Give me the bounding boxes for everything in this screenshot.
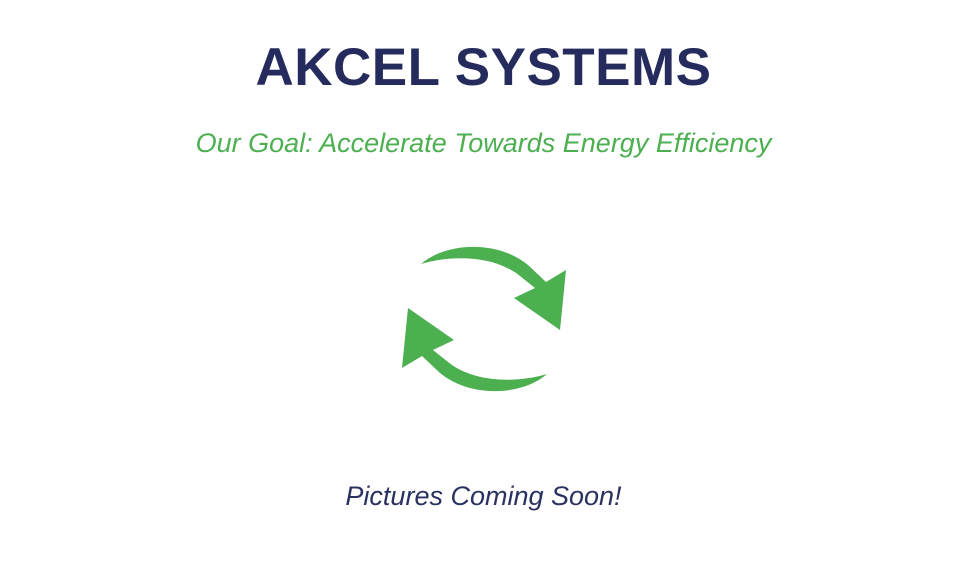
page-title: AKCEL SYSTEMS [0,36,967,100]
company-tagline: Our Goal: Accelerate Towards Energy Effi… [0,125,967,161]
graphic-container [0,240,967,398]
coming-soon-message: Pictures Coming Soon! [0,478,967,514]
recycle-arrows-icon [394,240,574,398]
landing-page: AKCEL SYSTEMS Our Goal: Accelerate Towar… [0,0,967,581]
